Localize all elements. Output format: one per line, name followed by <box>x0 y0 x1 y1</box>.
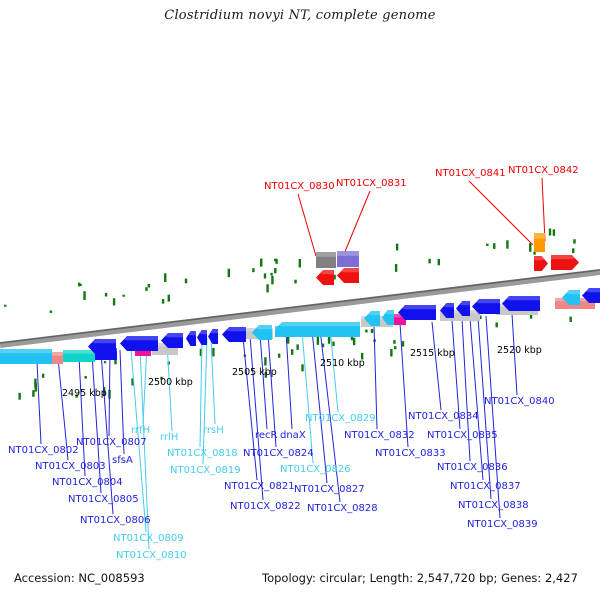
gene-label-bottom[interactable]: NT01CX_0840 <box>484 396 555 407</box>
gene-label-bottom[interactable]: sfsA <box>112 455 133 466</box>
gene-label-bottom[interactable]: rrsH <box>203 425 224 436</box>
gene-label-bottom[interactable]: rrfH <box>131 425 150 436</box>
gene-label-bottom[interactable]: NT01CX_0818 <box>167 448 238 459</box>
accession-text: Accession: NC_008593 <box>14 571 145 585</box>
gene-label-top[interactable]: NT01CX_0842 <box>508 165 579 176</box>
gene-label-bottom[interactable]: NT01CX_0819 <box>170 465 241 476</box>
gene-label-bottom[interactable]: rrlH <box>160 432 178 443</box>
gene-label-top[interactable]: NT01CX_0830 <box>264 181 335 192</box>
gene-label-bottom[interactable]: NT01CX_0838 <box>458 500 529 511</box>
gene-label-bottom[interactable]: NT01CX_0802 <box>8 445 79 456</box>
gene-label-top[interactable]: NT01CX_0831 <box>336 178 407 189</box>
gene-label-bottom[interactable]: NT01CX_0829 <box>305 413 376 424</box>
gene-label-bottom[interactable]: NT01CX_0806 <box>80 515 151 526</box>
gene-label-bottom[interactable]: NT01CX_0824 <box>243 448 314 459</box>
genome-stats-text: Topology: circular; Length: 2,547,720 bp… <box>262 571 578 585</box>
scale-label: 2505 kbp <box>232 367 277 378</box>
gene-label-bottom[interactable]: NT01CX_0837 <box>450 481 521 492</box>
gene-label-top[interactable]: NT01CX_0841 <box>435 168 506 179</box>
gene-label-bottom[interactable]: NT01CX_0834 <box>408 411 479 422</box>
gene-label-bottom[interactable]: NT01CX_0828 <box>307 503 378 514</box>
gene-label-bottom[interactable]: NT01CX_0832 <box>344 430 415 441</box>
scale-label: 2520 kbp <box>497 345 542 356</box>
gene-label-bottom[interactable]: NT01CX_0835 <box>427 430 498 441</box>
gene-label-bottom[interactable]: NT01CX_0807 <box>76 437 147 448</box>
gene-label-bottom[interactable]: NT01CX_0836 <box>437 462 508 473</box>
gene-label-bottom[interactable]: NT01CX_0826 <box>280 464 351 475</box>
gene-label-bottom[interactable]: NT01CX_0805 <box>68 494 139 505</box>
gene-label-bottom[interactable]: NT01CX_0809 <box>113 533 184 544</box>
scale-label: 2515 kbp <box>410 348 455 359</box>
scale-label: 2495 kbp <box>62 388 107 399</box>
gene-label-bottom[interactable]: NT01CX_0821 <box>224 481 295 492</box>
gene-label-bottom[interactable]: NT01CX_0822 <box>230 501 301 512</box>
scale-label: 2500 kbp <box>148 377 193 388</box>
scale-label: 2510 kbp <box>320 358 365 369</box>
gene-label-bottom[interactable]: recR <box>255 430 278 441</box>
gene-label-bottom[interactable]: NT01CX_0839 <box>467 519 538 530</box>
gene-label-bottom[interactable]: NT01CX_0810 <box>116 550 187 561</box>
gene-label-bottom[interactable]: NT01CX_0827 <box>294 484 365 495</box>
gene-label-bottom[interactable]: dnaX <box>280 430 306 441</box>
gene-label-bottom[interactable]: NT01CX_0804 <box>52 477 123 488</box>
gene-label-bottom[interactable]: NT01CX_0803 <box>35 461 106 472</box>
gene-label-bottom[interactable]: NT01CX_0833 <box>375 448 446 459</box>
